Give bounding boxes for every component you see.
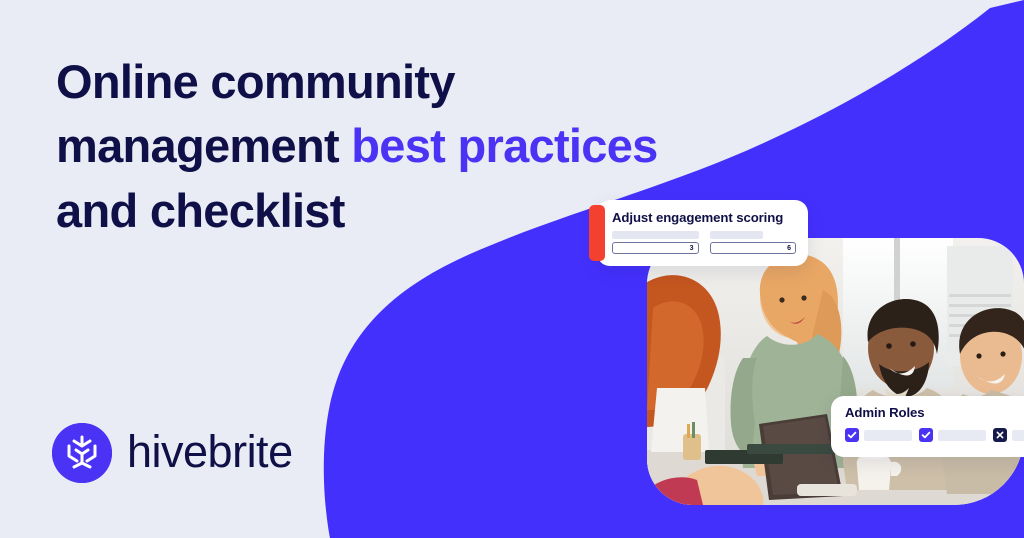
brand-name: hivebrite xyxy=(127,429,293,478)
admin-roles-card-title: Admin Roles xyxy=(845,405,1024,420)
admin-role-item-1[interactable] xyxy=(845,428,912,442)
scoring-field-1-input[interactable]: 3 xyxy=(612,242,699,254)
admin-roles-list xyxy=(845,428,1024,442)
scoring-field-2-value: 6 xyxy=(787,245,791,252)
headline-line-2-plain: management xyxy=(56,119,351,172)
hero-banner: Online community management best practic… xyxy=(0,0,1024,538)
admin-roles-card[interactable]: Admin Roles xyxy=(831,396,1024,457)
admin-role-3-label-placeholder xyxy=(1012,430,1024,441)
team-photo xyxy=(647,238,1024,505)
admin-role-item-3[interactable] xyxy=(993,428,1024,442)
admin-role-item-2[interactable] xyxy=(919,428,986,442)
hivebrite-hexagon-logo-icon xyxy=(52,423,112,483)
scoring-field-1-value: 3 xyxy=(690,245,694,252)
brand-logo[interactable]: hivebrite xyxy=(52,423,293,483)
check-icon[interactable] xyxy=(845,428,859,442)
headline-line-2-accent: best practices xyxy=(351,119,657,172)
page-title: Online community management best practic… xyxy=(56,50,756,243)
scoring-field-2-input[interactable]: 6 xyxy=(710,242,797,254)
admin-role-2-label-placeholder xyxy=(938,430,986,441)
admin-role-1-label-placeholder xyxy=(864,430,912,441)
check-icon[interactable] xyxy=(919,428,933,442)
headline-line-3: and checklist xyxy=(56,184,345,237)
headline-line-1: Online community xyxy=(56,55,455,108)
close-x-icon[interactable] xyxy=(993,428,1007,442)
